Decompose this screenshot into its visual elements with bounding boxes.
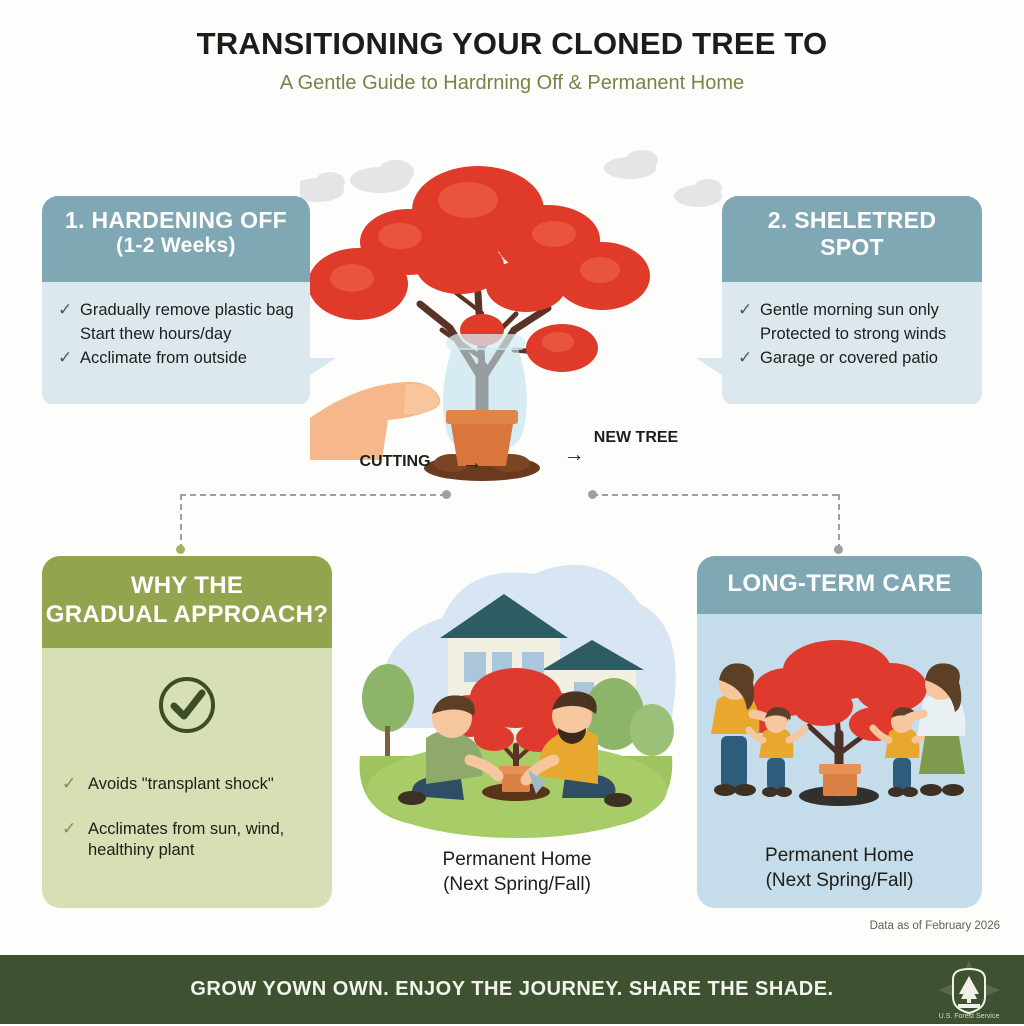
list-item: ✓ Acclimates from sun, wind, healthiny p… [62, 819, 312, 861]
two-people-planting-tree-graphic [352, 548, 682, 848]
panel-sheltered-spot-title-line2: SPOT [722, 234, 982, 261]
list-item: ✓ Acclimate from outside [58, 348, 296, 369]
check-icon: ✓ [58, 347, 72, 369]
panel-sheltered-spot-title-line1: 2. SHELETRED [722, 207, 982, 234]
panel-long-term-care-caption: Permanent Home (Next Spring/Fall) [697, 844, 982, 893]
panel-sheltered-spot-header: 2. SHELETRED SPOT [722, 196, 982, 282]
panel-sheltered-spot-body: ✓ Gentle morning sun only Protected to s… [722, 282, 982, 404]
list-item: ✓ Avoids "transplant shock" [62, 774, 312, 795]
new-tree-label: NEW TREE [590, 428, 682, 448]
check-icon: ✓ [738, 347, 752, 369]
panel-sheltered-spot-bullet-list: ✓ Gentle morning sun only Protected to s… [738, 300, 972, 369]
list-item: Protected to strong winds [738, 324, 972, 345]
illustration-planting-permanent-home: Permanent Home (Next Spring/Fall) [352, 548, 682, 848]
center-illustration-caption: Permanent Home (Next Spring/Fall) [352, 848, 682, 897]
check-icon: ✓ [58, 299, 72, 321]
panel-hardening-off[interactable]: 1. HARDENING OFF (1-2 Weeks) ✓ Gradually… [42, 196, 310, 404]
cutting-label: CUTTING [340, 453, 450, 471]
check-icon: ✓ [62, 818, 76, 840]
panel-why-gradual-bullet-list: ✓ Avoids "transplant shock" ✓ Acclimates… [62, 774, 312, 861]
connector-line-horizontal-right [592, 494, 838, 496]
panel-hardening-off-bullet-list: ✓ Gradually remove plastic bag Start the… [58, 300, 296, 369]
circle-check-icon [156, 674, 218, 736]
connector-line-vertical-right [838, 494, 840, 550]
list-item: ✓ Gradually remove plastic bag [58, 300, 296, 321]
panel-why-gradual-body: ✓ Avoids "transplant shock" ✓ Acclimates… [42, 648, 332, 908]
list-item: ✓ Gentle morning sun only [738, 300, 972, 321]
connector-node-bottom-right [834, 545, 843, 554]
check-icon: ✓ [738, 299, 752, 321]
panel-long-term-care[interactable]: LONG-TERM CARE [697, 556, 982, 908]
new-tree-arrow-icon: → [554, 443, 594, 467]
bubble-tail-right [306, 358, 336, 378]
list-item: ✓ Garage or covered patio [738, 348, 972, 369]
footer-bar: GROW YOWN OWN. ENJOY THE JOURNEY. SHARE … [0, 955, 1024, 1024]
page-header: TRANSITIONING YOUR CLONED TREE TO A Gent… [0, 0, 1024, 130]
page-subtitle: A Gentle Guide to Hardrning Off & Perman… [0, 72, 1024, 95]
logo-caption: U.S. Forest Service [939, 1013, 1000, 1020]
panel-why-gradual-approach[interactable]: WHY THE GRADUAL APPROACH? ✓ Avoids "tran… [42, 556, 332, 908]
hero-illustration-cloned-tree: CUTTING → → NEW TREE [300, 118, 730, 498]
panel-sheltered-spot[interactable]: 2. SHELETRED SPOT ✓ Gentle morning sun o… [722, 196, 982, 404]
panel-long-term-care-body: Permanent Home (Next Spring/Fall) [697, 614, 982, 908]
panel-hardening-off-body: ✓ Gradually remove plastic bag Start the… [42, 282, 310, 404]
connector-node-bottom-left [176, 545, 185, 554]
data-as-of-note: Data as of February 2026 [870, 920, 1000, 932]
panel-why-gradual-title-line1: WHY THE [42, 572, 332, 601]
connector-node-center-left [442, 490, 451, 499]
check-icon: ✓ [62, 773, 76, 795]
page-title: TRANSITIONING YOUR CLONED TREE TO [0, 26, 1024, 62]
connector-line-vertical-left [180, 494, 182, 550]
family-with-tree-graphic [697, 618, 982, 828]
cutting-arrow-icon: → [452, 451, 492, 475]
connector-node-center-right [588, 490, 597, 499]
panel-hardening-off-title-line1: 1. HARDENING OFF [42, 207, 310, 234]
footer-tagline: GROW YOWN OWN. ENJOY THE JOURNEY. SHARE … [0, 955, 1024, 1024]
panel-long-term-care-header: LONG-TERM CARE [697, 556, 982, 614]
panel-hardening-off-header: 1. HARDENING OFF (1-2 Weeks) [42, 196, 310, 282]
panel-hardening-off-title-line2: (1-2 Weeks) [42, 234, 310, 259]
usda-forest-service-logo: U.S. Forest Service [934, 961, 1004, 1021]
panel-long-term-care-title: LONG-TERM CARE [727, 570, 951, 597]
list-item: Start thew hours/day [58, 324, 296, 345]
connector-line-horizontal-left [180, 494, 446, 496]
panel-why-gradual-header: WHY THE GRADUAL APPROACH? [42, 556, 332, 648]
panel-why-gradual-title-line2: GRADUAL APPROACH? [42, 601, 332, 630]
bubble-tail-left [696, 358, 726, 378]
